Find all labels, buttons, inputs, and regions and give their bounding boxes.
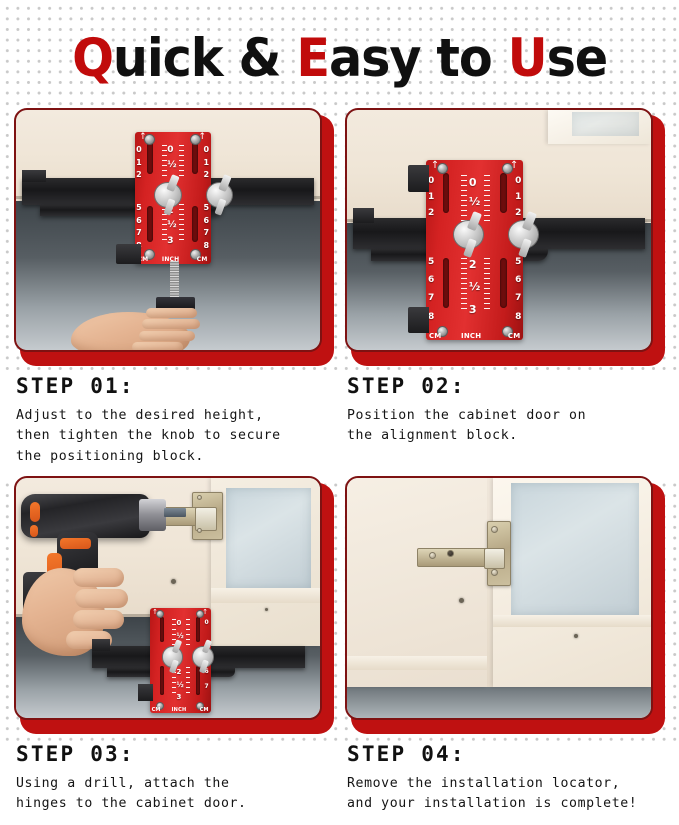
title-segment-5: se bbox=[546, 28, 607, 89]
unit-label-cm-left: CM bbox=[429, 332, 442, 340]
title-segment-3: asy to bbox=[329, 28, 508, 89]
step-heading: STEP 02: bbox=[347, 376, 665, 397]
arrow-up-icon: ↑ bbox=[510, 161, 518, 171]
arrow-up-icon: ↑ bbox=[139, 133, 147, 142]
steps-grid: ↑ ↑ 0 1 2 0 1 2 5 6 7 8 bbox=[0, 108, 679, 825]
step-body: Adjust to the desired height, then tight… bbox=[16, 406, 334, 467]
photo-frame-04 bbox=[345, 476, 665, 734]
step-text-03: STEP 03: Using a drill, attach the hinge… bbox=[16, 744, 334, 815]
finished-hinge-photo bbox=[345, 476, 653, 720]
photo-frame-01: ↑ ↑ 0 1 2 0 1 2 5 6 7 8 bbox=[14, 108, 334, 366]
scene-02: ↑ ↑ 0 1 2 0 1 2 5 6 7 8 bbox=[347, 110, 651, 350]
scene-01: ↑ ↑ 0 1 2 0 1 2 5 6 7 8 bbox=[16, 110, 320, 350]
unit-label-inch: INCH bbox=[172, 707, 187, 713]
jig-door-positioned-photo: ↑ ↑ 0 1 2 0 1 2 5 6 7 8 bbox=[345, 108, 653, 352]
title-segment-0: Q bbox=[72, 28, 113, 89]
title-segment-2: E bbox=[296, 28, 329, 89]
title-segment-1: uick & bbox=[113, 28, 296, 89]
step-card-03: ↑ ↑ 0 ½ 2 ½ 3 0 6 7 bbox=[14, 476, 336, 825]
step-text-04: STEP 04: Remove the installation locator… bbox=[347, 744, 665, 815]
step-heading: STEP 04: bbox=[347, 744, 665, 765]
arrow-up-icon: ↑ bbox=[152, 609, 158, 616]
step-text-02: STEP 02: Position the cabinet door on th… bbox=[347, 376, 665, 447]
arrow-up-icon: ↑ bbox=[198, 133, 206, 142]
step-card-02: ↑ ↑ 0 1 2 0 1 2 5 6 7 8 bbox=[345, 108, 667, 466]
step-card-04: STEP 04: Remove the installation locator… bbox=[345, 476, 667, 825]
step-body: Position the cabinet door on the alignme… bbox=[347, 406, 665, 447]
arrow-up-icon: ↑ bbox=[431, 161, 439, 171]
scene-03: ↑ ↑ 0 ½ 2 ½ 3 0 6 7 bbox=[16, 478, 320, 718]
jig-height-adjust-photo: ↑ ↑ 0 1 2 0 1 2 5 6 7 8 bbox=[14, 108, 322, 352]
step-card-01: ↑ ↑ 0 1 2 0 1 2 5 6 7 8 bbox=[14, 108, 336, 466]
step-heading: STEP 01: bbox=[16, 376, 334, 397]
page-header: Quick & Easy to Use bbox=[0, 0, 679, 110]
infographic-page: Quick & Easy to Use bbox=[0, 0, 679, 825]
step-body: Remove the installation locator, and you… bbox=[347, 774, 665, 815]
unit-label-cm-right: CM bbox=[508, 332, 521, 340]
photo-frame-03: ↑ ↑ 0 ½ 2 ½ 3 0 6 7 bbox=[14, 476, 334, 734]
unit-label-inch: INCH bbox=[461, 332, 481, 340]
unit-label-cm-right: CM bbox=[200, 707, 209, 713]
step-body: Using a drill, attach the hinges to the … bbox=[16, 774, 334, 815]
page-title: Quick & Easy to Use bbox=[72, 32, 607, 85]
step-heading: STEP 03: bbox=[16, 744, 334, 765]
title-segment-4: U bbox=[508, 28, 547, 89]
photo-frame-02: ↑ ↑ 0 1 2 0 1 2 5 6 7 8 bbox=[345, 108, 665, 366]
step-text-01: STEP 01: Adjust to the desired height, t… bbox=[16, 376, 334, 467]
unit-label-cm-right: CM bbox=[197, 256, 208, 263]
scene-04 bbox=[347, 478, 651, 718]
unit-label-cm-left: CM bbox=[152, 707, 161, 713]
arrow-up-icon: ↑ bbox=[202, 609, 208, 616]
drill-hinge-photo: ↑ ↑ 0 ½ 2 ½ 3 0 6 7 bbox=[14, 476, 322, 720]
